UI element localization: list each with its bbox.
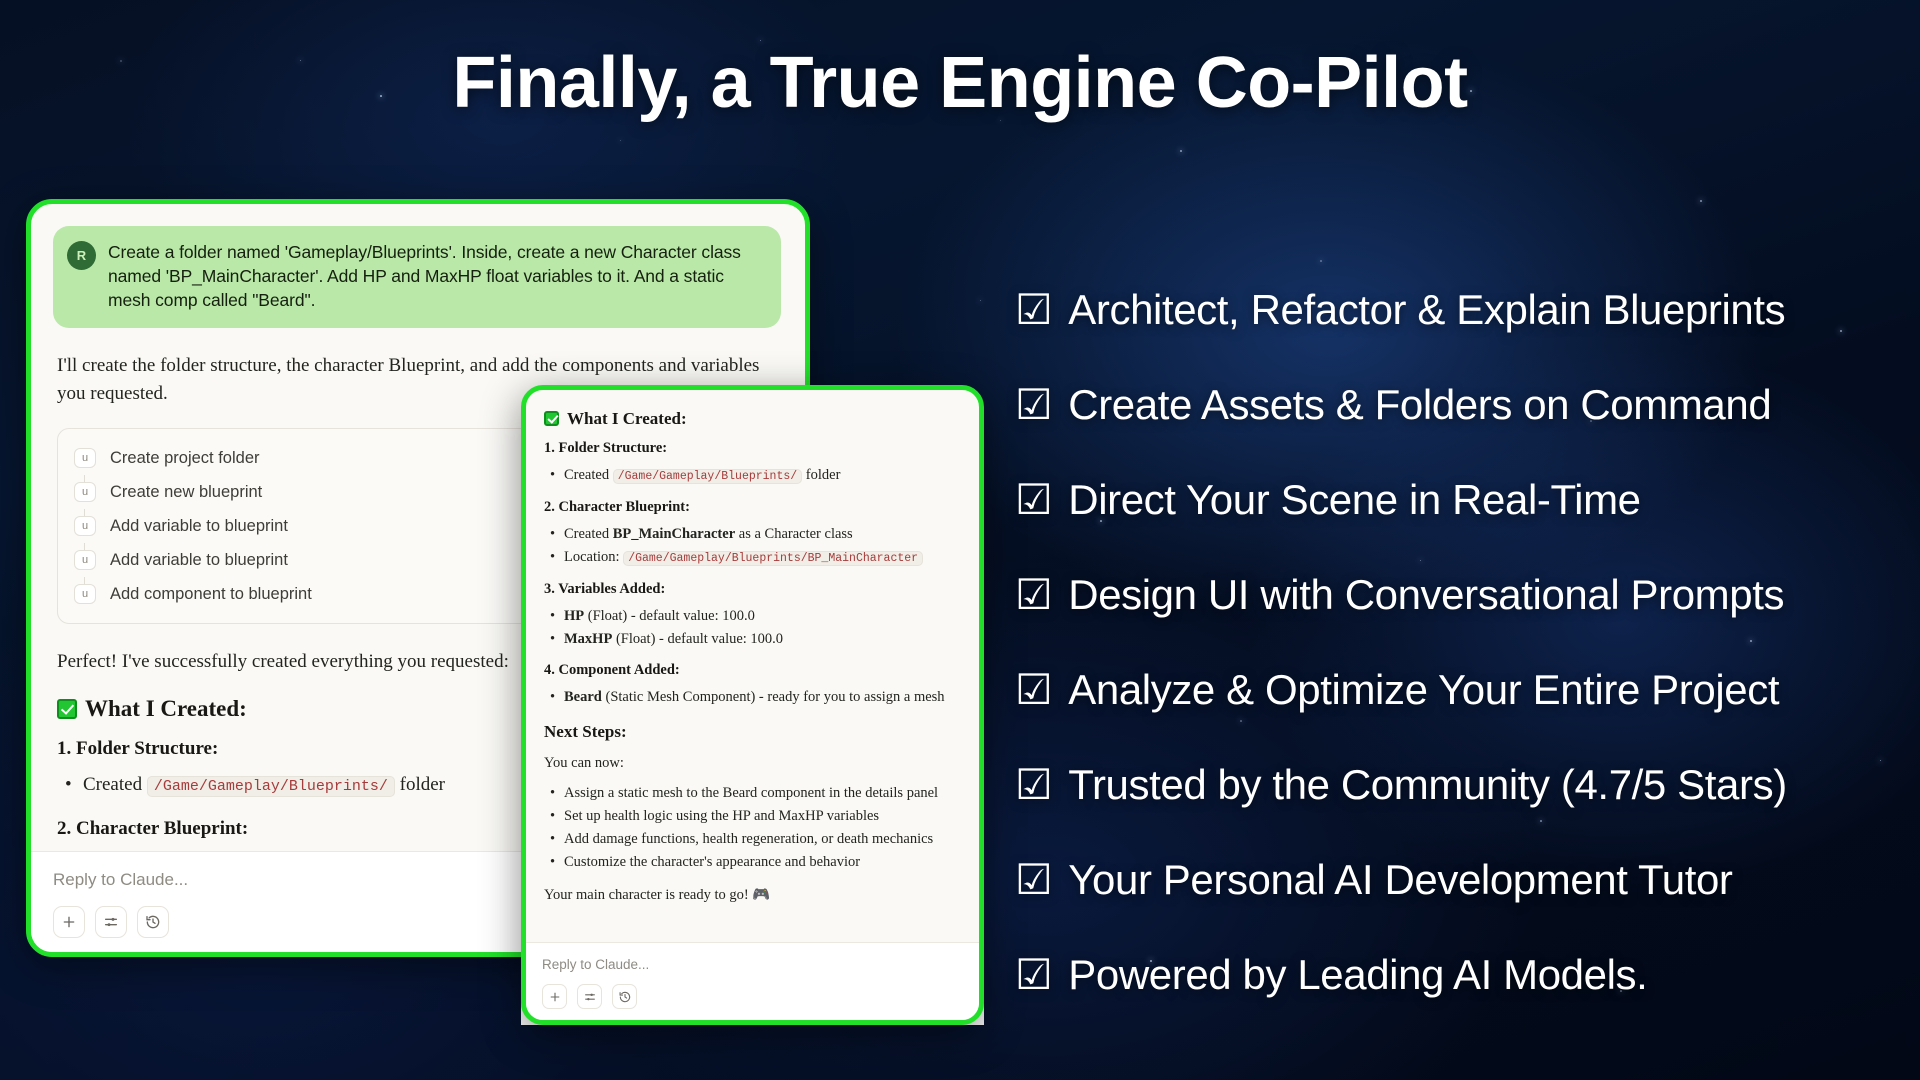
- plus-icon[interactable]: [53, 906, 85, 938]
- next-steps-heading: Next Steps:: [544, 722, 961, 742]
- message-composer[interactable]: Reply to Claude...: [526, 942, 979, 1020]
- list-item: Set up health logic using the HP and Max…: [544, 805, 961, 828]
- check-mark-icon: ☑: [1015, 574, 1052, 616]
- composer-toolbar: [542, 984, 963, 1009]
- bullet-post-text: as a Character class: [739, 526, 853, 542]
- check-mark-icon: ☑: [1015, 289, 1052, 331]
- feature-item: ☑Your Personal AI Development Tutor: [1015, 832, 1905, 927]
- summary-heading: What I Created:: [544, 409, 961, 429]
- feature-label: Powered by Leading AI Models.: [1068, 951, 1647, 999]
- tool-badge-icon: u: [74, 516, 96, 536]
- reply-input-placeholder[interactable]: Reply to Claude...: [542, 957, 963, 972]
- feature-item: ☑Direct Your Scene in Real-Time: [1015, 452, 1905, 547]
- check-box-icon: [544, 411, 559, 426]
- feature-label: Create Assets & Folders on Command: [1068, 381, 1771, 429]
- bullet-post-text: folder: [806, 467, 841, 483]
- section-title-component-added: 4. Component Added:: [544, 662, 961, 679]
- tool-call-label: Create project folder: [110, 449, 260, 468]
- bullet-bold-text: MaxHP: [564, 631, 612, 647]
- next-steps-intro: You can now:: [544, 752, 961, 774]
- tool-badge-icon: u: [74, 482, 96, 502]
- chat-scroll-area[interactable]: What I Created: 1. Folder Structure: Cre…: [526, 390, 979, 1020]
- feature-label: Analyze & Optimize Your Entire Project: [1068, 666, 1779, 714]
- bullet-pre-text: Location:: [564, 549, 620, 565]
- component-list: Beard (Static Mesh Component) - ready fo…: [544, 686, 961, 709]
- section-title-character-blueprint: 2. Character Blueprint:: [544, 499, 961, 516]
- section-title-variables-added: 3. Variables Added:: [544, 581, 961, 598]
- list-item: Beard (Static Mesh Component) - ready fo…: [544, 686, 961, 709]
- bullet-post-text: (Float) - default value: 100.0: [616, 631, 783, 647]
- closing-text: Your main character is ready to go! 🎮: [544, 884, 961, 906]
- chat-panel-secondary: What I Created: 1. Folder Structure: Cre…: [521, 385, 984, 1025]
- bullet-pre-text: Created: [83, 774, 142, 795]
- feature-label: Your Personal AI Development Tutor: [1068, 856, 1732, 904]
- folder-structure-list: Created /Game/Gameplay/Blueprints/ folde…: [544, 464, 961, 488]
- history-clock-icon[interactable]: [137, 906, 169, 938]
- page-title: Finally, a True Engine Co-Pilot: [0, 42, 1920, 124]
- list-item: Created /Game/Gameplay/Blueprints/ folde…: [544, 464, 961, 488]
- sliders-icon[interactable]: [577, 984, 602, 1009]
- tool-call-label: Add component to blueprint: [110, 585, 312, 604]
- assistant-message-body: What I Created: 1. Folder Structure: Cre…: [526, 390, 979, 906]
- bullet-bold-text: Beard: [564, 689, 602, 705]
- feature-item: ☑Architect, Refactor & Explain Blueprint…: [1015, 262, 1905, 357]
- character-blueprint-list: Created BP_MainCharacter as a Character …: [544, 523, 961, 570]
- bullet-post-text: (Static Mesh Component) - ready for you …: [605, 689, 944, 705]
- bullet-post-text: (Float) - default value: 100.0: [588, 608, 755, 624]
- list-item: Assign a static mesh to the Beard compon…: [544, 782, 961, 805]
- feature-label: Direct Your Scene in Real-Time: [1068, 476, 1640, 524]
- list-item: Add damage functions, health regeneratio…: [544, 828, 961, 851]
- summary-heading-label: What I Created:: [85, 696, 247, 721]
- check-mark-icon: ☑: [1015, 384, 1052, 426]
- user-message-text: Create a folder named 'Gameplay/Blueprin…: [108, 240, 763, 312]
- bullet-pre-text: Created: [564, 526, 609, 542]
- list-item: MaxHP (Float) - default value: 100.0: [544, 628, 961, 651]
- summary-heading-label: What I Created:: [567, 409, 687, 428]
- bullet-pre-text: Created: [564, 467, 609, 483]
- check-box-icon: [57, 699, 77, 719]
- plus-icon[interactable]: [542, 984, 567, 1009]
- feature-label: Design UI with Conversational Prompts: [1068, 571, 1784, 619]
- code-path: /Game/Gameplay/Blueprints/: [147, 776, 395, 797]
- tool-call-label: Add variable to blueprint: [110, 517, 288, 536]
- bullet-bold-text: BP_MainCharacter: [613, 526, 735, 542]
- bullet-bold-text: HP: [564, 608, 584, 624]
- tool-badge-icon: u: [74, 550, 96, 570]
- history-clock-icon[interactable]: [612, 984, 637, 1009]
- feature-item: ☑Design UI with Conversational Prompts: [1015, 547, 1905, 642]
- check-mark-icon: ☑: [1015, 479, 1052, 521]
- list-item: Location: /Game/Gameplay/Blueprints/BP_M…: [544, 546, 961, 570]
- code-path: /Game/Gameplay/Blueprints/: [613, 469, 802, 484]
- variables-list: HP (Float) - default value: 100.0 MaxHP …: [544, 605, 961, 651]
- check-mark-icon: ☑: [1015, 954, 1052, 996]
- feature-label: Architect, Refactor & Explain Blueprints: [1068, 286, 1785, 334]
- feature-list: ☑Architect, Refactor & Explain Blueprint…: [1015, 262, 1905, 1022]
- feature-item: ☑Powered by Leading AI Models.: [1015, 927, 1905, 1022]
- user-message-row: R Create a folder named 'Gameplay/Bluepr…: [31, 204, 805, 328]
- next-steps-list: Assign a static mesh to the Beard compon…: [544, 782, 961, 874]
- bullet-post-text: folder: [400, 774, 445, 795]
- feature-item: ☑Trusted by the Community (4.7/5 Stars): [1015, 737, 1905, 832]
- tool-call-label: Create new blueprint: [110, 483, 262, 502]
- sliders-icon[interactable]: [95, 906, 127, 938]
- check-mark-icon: ☑: [1015, 764, 1052, 806]
- code-path: /Game/Gameplay/Blueprints/BP_MainCharact…: [623, 551, 923, 566]
- check-mark-icon: ☑: [1015, 669, 1052, 711]
- tool-badge-icon: u: [74, 448, 96, 468]
- user-message-bubble: R Create a folder named 'Gameplay/Bluepr…: [53, 226, 781, 328]
- feature-item: ☑Analyze & Optimize Your Entire Project: [1015, 642, 1905, 737]
- list-item: Customize the character's appearance and…: [544, 851, 961, 874]
- feature-item: ☑Create Assets & Folders on Command: [1015, 357, 1905, 452]
- avatar: R: [67, 241, 96, 270]
- list-item: Created BP_MainCharacter as a Character …: [544, 523, 961, 546]
- tool-call-label: Add variable to blueprint: [110, 551, 288, 570]
- list-item: HP (Float) - default value: 100.0: [544, 605, 961, 628]
- check-mark-icon: ☑: [1015, 859, 1052, 901]
- tool-badge-icon: u: [74, 584, 96, 604]
- feature-label: Trusted by the Community (4.7/5 Stars): [1068, 761, 1787, 809]
- section-title-folder-structure: 1. Folder Structure:: [544, 440, 961, 457]
